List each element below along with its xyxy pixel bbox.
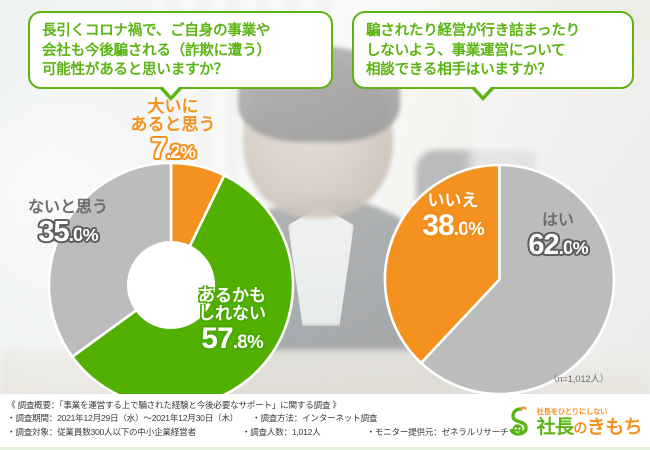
survey-method: ・調査方法：インターネット調査 — [252, 413, 377, 423]
survey-summary-row-1: 《 調査概要：「事業を運営する上で騙された経験と今後必要なサポート」に関する調査… — [7, 399, 508, 412]
question-left-line-1: 長引くコロナ禍で、ご自身の事業や — [42, 22, 321, 42]
survey-target: ・調査対象：従業員数300人以下の中小企業経営者 — [7, 427, 196, 437]
question-bubble-left: 長引くコロナ禍で、ご自身の事業や 会社も今後騙される（詐欺に遭う） 可能性がある… — [28, 11, 333, 89]
slice-label-left-disagree: ないと思う 35.0% — [8, 200, 128, 248]
survey-summary: 《 調査概要：「事業を運営する上で騙された経験と今後必要なサポート」に関する調査… — [7, 399, 508, 439]
question-right-line-2: しないよう、事業運営について — [366, 42, 622, 62]
survey-summary-row-2: ・調査期間：2021年12月29日（水）〜2021年12月30日（木）・調査方法… — [7, 412, 508, 425]
slice-label-percent: 7.2% — [118, 134, 228, 165]
brand-name-no: の — [573, 420, 586, 436]
snake-mascot-icon — [508, 405, 532, 437]
brand-name-orange: きもち — [587, 417, 642, 438]
slice-label-percent: 35.0% — [8, 217, 128, 248]
brand-name-green: 社長 — [537, 417, 574, 438]
slice-label-right-yes: はい 62.0% — [508, 213, 608, 261]
bubble-left-tail-inner — [163, 87, 179, 96]
slice-label-percent: 38.0% — [398, 210, 508, 242]
slice-label-percent: 62.0% — [508, 230, 608, 261]
bubble-right-tail-inner — [475, 87, 491, 96]
donut-chart-left-svg — [46, 160, 296, 410]
slice-label-name-line2: しれない — [174, 305, 290, 323]
survey-monitor-provider: ・モニター提供元：ゼネラルリサーチ — [366, 427, 508, 437]
infographic-canvas: 長引くコロナ禍で、ご自身の事業や 会社も今後騙される（詐欺に遭う） 可能性がある… — [0, 0, 650, 450]
slice-label-name-line2: あると思う — [118, 116, 228, 134]
slice-label-name-line1: はい — [508, 213, 608, 230]
slice-label-left-strongly-agree: 大いに あると思う 7.2% — [118, 98, 228, 165]
slice-label-name-line1: 大いに — [118, 98, 228, 116]
brand-text: 社長をひとりにしない 社長のきもち — [537, 406, 642, 437]
question-left-line-3: 可能性があると思いますか？ — [42, 61, 321, 81]
slice-label-name-line1: ないと思う — [8, 200, 128, 217]
sample-size-note: （n=1,012人） — [548, 371, 609, 385]
survey-count: ・調査人数：1,012人 — [242, 427, 321, 437]
brand-logo[interactable]: 社長をひとりにしない 社長のきもち — [508, 400, 642, 442]
question-left-line-2: 会社も今後騙される（詐欺に遭う） — [42, 42, 321, 62]
donut-chart-left — [46, 160, 296, 410]
slice-label-name-line1: いいえ — [398, 192, 508, 210]
survey-period: ・調査期間：2021年12月29日（水）〜2021年12月30日（木） — [7, 413, 238, 423]
brand-name: 社長のきもち — [537, 418, 642, 437]
footer-bar: 《 調査概要：「事業を運営する上で騙された経験と今後必要なサポート」に関する調査… — [0, 394, 650, 450]
slice-label-name-line1: あるかも — [174, 287, 290, 305]
question-right-line-1: 騙されたり経営が行き詰まったり — [366, 22, 622, 42]
slice-label-percent: 57.8% — [174, 323, 290, 355]
survey-summary-row-3: ・調査対象：従業員数300人以下の中小企業経営者・調査人数：1,012人・モニタ… — [7, 426, 508, 439]
slice-label-left-maybe: あるかも しれない 57.8% — [174, 287, 290, 355]
slice-label-right-no: いいえ 38.0% — [398, 192, 508, 242]
question-bubble-right: 騙されたり経営が行き詰まったり しないよう、事業運営について 相談できる相手はい… — [352, 11, 634, 89]
question-right-line-3: 相談できる相手はいますか？ — [366, 61, 622, 81]
brand-tagline: 社長をひとりにしない — [537, 406, 642, 417]
